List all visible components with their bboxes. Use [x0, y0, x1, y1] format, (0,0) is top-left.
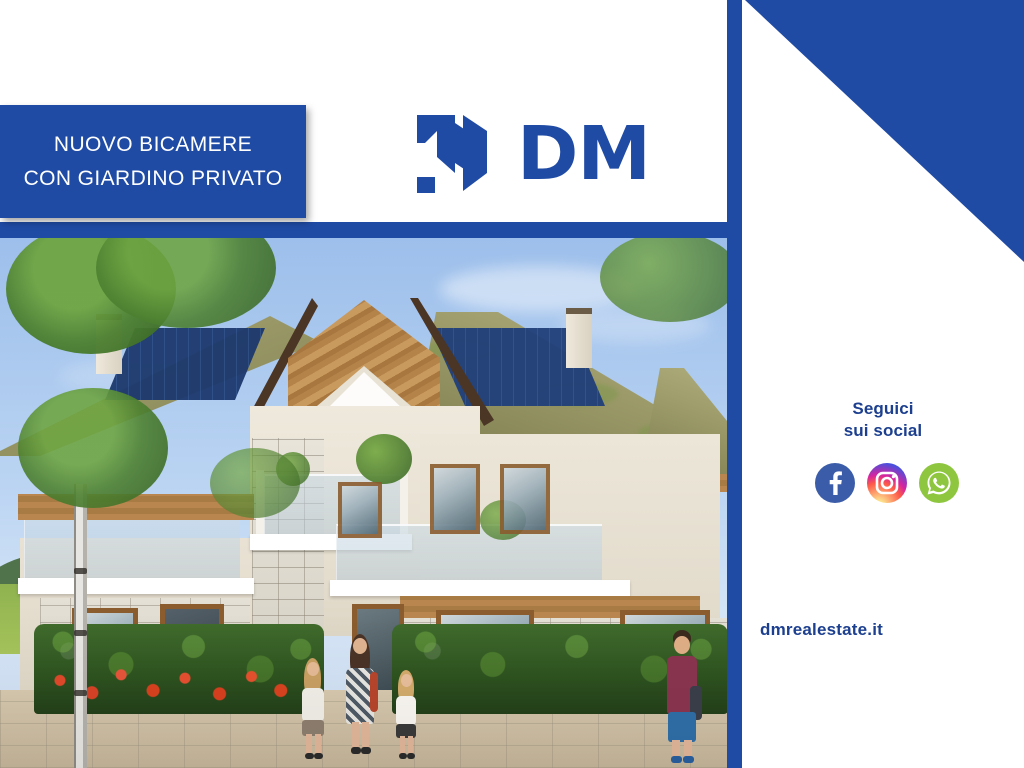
social-heading-line-1: Seguici: [742, 398, 1024, 420]
sidebar-divider-rule: [730, 0, 742, 768]
advertisement-canvas: DM NUOVO BICAMERE CON GIARDINO PRIVATO: [0, 0, 1024, 768]
window-upper-centre: [338, 482, 382, 538]
facebook-icon[interactable]: [815, 463, 855, 503]
balcony-plant: [356, 434, 412, 484]
chimney-right: [566, 308, 592, 368]
dm-house-monogram-icon: [415, 113, 507, 195]
right-balcony-slab: [330, 580, 630, 596]
property-photo: [0, 238, 727, 768]
window-upper-right-2: [500, 464, 550, 534]
person-child-older: [296, 658, 330, 758]
instagram-icon[interactable]: [867, 463, 907, 503]
promo-banner: NUOVO BICAMERE CON GIARDINO PRIVATO: [0, 105, 306, 218]
birch-tree-trunk: [74, 484, 87, 768]
social-heading-line-2: sui social: [742, 420, 1024, 442]
website-url[interactable]: dmrealestate.it: [760, 620, 1024, 640]
person-man: [660, 630, 704, 764]
tree-foliage: [210, 448, 300, 518]
left-balcony-glass-rail: [24, 518, 240, 580]
birch-bark-mark: [74, 690, 87, 696]
person-mother: [340, 634, 380, 754]
person-child-younger: [390, 670, 422, 760]
promo-banner-line-2: CON GIARDINO PRIVATO: [24, 162, 283, 196]
promo-banner-line-1: NUOVO BICAMERE: [54, 128, 252, 162]
logo-wordmark: DM: [517, 119, 650, 189]
birch-bark-mark: [74, 630, 87, 636]
property-photo-frame: [0, 238, 742, 768]
brand-logo: DM: [415, 113, 650, 195]
window-upper-right: [430, 464, 480, 534]
tree-foliage: [18, 388, 168, 508]
left-balcony-slab: [18, 578, 254, 594]
birch-bark-mark: [74, 568, 87, 574]
social-heading: Seguici sui social: [742, 398, 1024, 442]
header-bottom-rule: [0, 222, 742, 238]
whatsapp-icon[interactable]: [919, 463, 959, 503]
social-icon-row: [742, 463, 1024, 503]
